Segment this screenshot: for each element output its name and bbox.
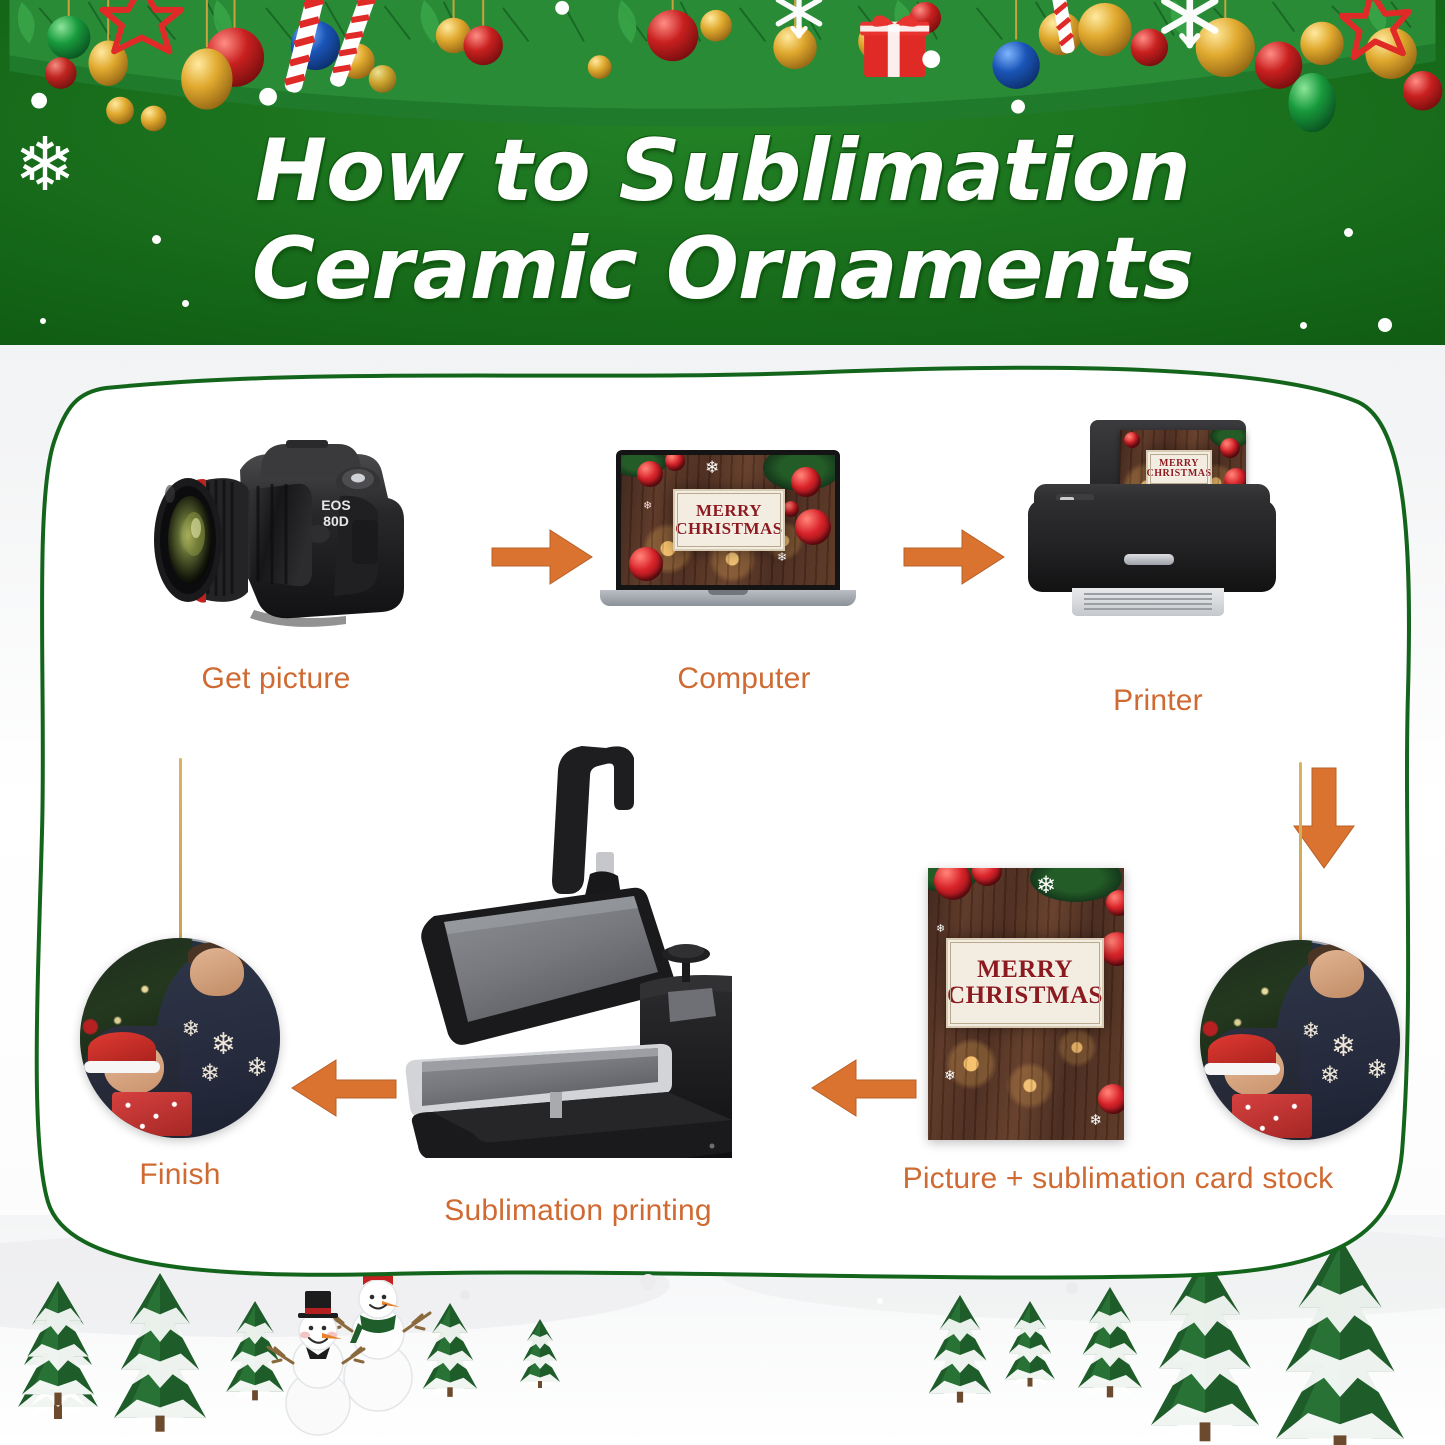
artwork-greeting-line1: MERRY [696, 502, 762, 520]
step-label-computer: Computer [584, 662, 904, 696]
laptop-base [600, 590, 856, 606]
inkjet-printer: MERRY CHRISTMAS [1028, 412, 1278, 622]
snow-dot [1378, 318, 1392, 332]
heat-press [400, 740, 760, 1158]
printer-output-tray [1072, 588, 1224, 616]
ornament-hanging-string [1299, 762, 1302, 952]
laptop: ❄ ❄ ❄ MERRY CHRISTMAS [616, 450, 872, 620]
snow-dot [1066, 1282, 1078, 1294]
cardstock-greeting-line2: CHRISTMAS [947, 983, 1103, 1009]
cardstock-sign: MERRY CHRISTMAS [946, 938, 1104, 1028]
title-line-2: Ceramic Ornaments [0, 220, 1445, 318]
laptop-wallpaper-artwork: ❄ ❄ ❄ MERRY CHRISTMAS [621, 455, 835, 585]
ornament-hanging-string [179, 758, 182, 948]
ornament-disc: ❄ ❄ ❄ ❄ [1200, 940, 1400, 1140]
laptop-screen: ❄ ❄ ❄ MERRY CHRISTMAS [616, 450, 840, 590]
ornament-photo: ❄ ❄ ❄ ❄ [1200, 940, 1400, 1140]
print-greeting-line2: CHRISTMAS [1146, 469, 1211, 479]
arrow-left-icon [804, 1052, 920, 1129]
artwork-sign: MERRY CHRISTMAS [673, 489, 785, 551]
title-line-1: How to Sublimation [0, 122, 1445, 220]
step-label-sublimation: Sublimation printing [358, 1194, 798, 1228]
snow-dot [460, 1290, 470, 1300]
step-label-card-stock: Picture + sublimation card stock [868, 1162, 1368, 1196]
snow-dot [640, 1274, 656, 1290]
snow-dot [40, 318, 46, 324]
gift-box [860, 15, 929, 77]
arrow-right-icon [488, 522, 598, 597]
arrow-left-icon [284, 1052, 400, 1129]
page-title: How to Sublimation Ceramic Ornaments [0, 122, 1445, 318]
step-label-printer: Printer [1018, 684, 1298, 718]
printer-body [1028, 500, 1276, 592]
camera-brand-line2: 80D [323, 513, 349, 529]
print-sign: MERRY CHRISTMAS [1146, 450, 1212, 488]
infographic-page: ❄ How to Sublimation Ceramic Ornaments [0, 0, 1445, 1445]
dslr-camera: EOS 80D [136, 424, 426, 654]
step-label-get-picture: Get picture [96, 662, 456, 696]
ceramic-ornament-finish: ❄ ❄ ❄ ❄ [80, 758, 280, 1098]
step-label-finish: Finish [80, 1158, 280, 1192]
ornament-disc: ❄ ❄ ❄ ❄ [80, 938, 280, 1138]
artwork-greeting-line2: CHRISTMAS [675, 520, 782, 538]
printed-card-stock: ❄ ❄ ❄ ❄ MERRY CHRISTMAS [928, 868, 1124, 1140]
arrow-right-icon [900, 522, 1010, 597]
printer-front-latch[interactable] [1124, 554, 1174, 565]
snow-dot [1300, 322, 1307, 329]
ceramic-ornament-right: ❄ ❄ ❄ ❄ [1200, 762, 1400, 1102]
camera-brand-line1: EOS [321, 497, 351, 513]
ornament-photo: ❄ ❄ ❄ ❄ [80, 938, 280, 1138]
cardstock-greeting-line1: MERRY [977, 957, 1073, 983]
flow-panel: EOS 80D [28, 362, 1418, 1302]
